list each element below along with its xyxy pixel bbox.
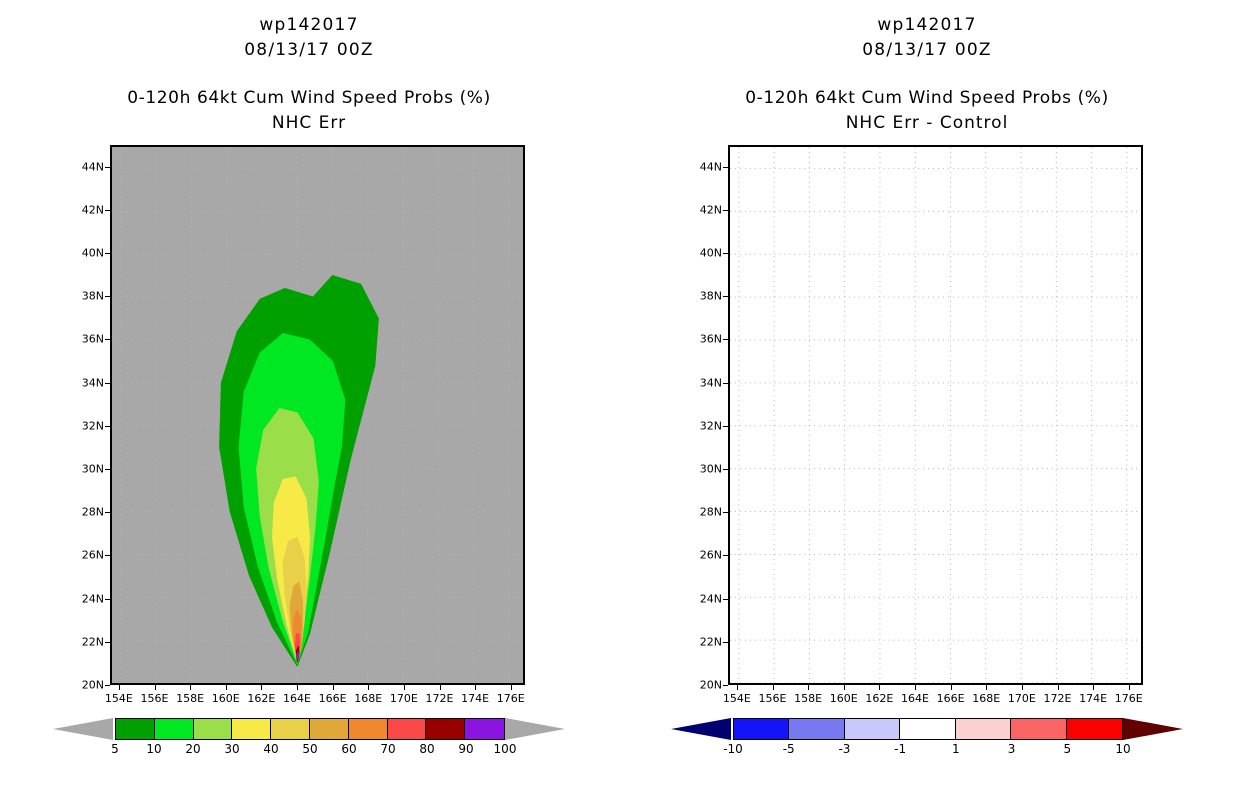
y-axis-label: 30N [68,463,104,476]
x-axis-label: 174E [461,692,489,705]
colorbar-tick-label: 3 [1008,742,1016,756]
colorbar-segment [1067,719,1122,739]
x-axis-label: 154E [723,692,751,705]
colorbar-tick-label: 90 [458,742,473,756]
y-axis-tick [105,339,110,340]
plot-area-nhc-err[interactable] [110,145,525,685]
y-axis-tick [105,210,110,211]
x-axis-tick [404,685,405,690]
y-axis-tick [723,210,728,211]
x-axis-tick [879,685,880,690]
y-axis-label: 30N [686,463,722,476]
panel-right-product: 0-120h 64kt Cum Wind Speed Probs (%) [618,88,1236,108]
y-axis-label: 42N [686,203,722,216]
x-axis-label: 170E [390,692,418,705]
colorbar-segment [1011,719,1066,739]
wind-probability-contours [112,147,523,683]
y-axis-tick [105,253,110,254]
y-axis-label: 34N [686,376,722,389]
gridlines-right [730,147,1141,683]
x-axis-tick [226,685,227,690]
y-axis-tick [105,426,110,427]
colorbar-tick-label: 60 [341,742,356,756]
y-axis-tick [723,383,728,384]
y-axis-label: 26N [686,549,722,562]
colorbar-segment [900,719,955,739]
y-axis-tick [105,685,110,686]
x-axis-tick [1129,685,1130,690]
x-axis-tick [368,685,369,690]
colorbar-tick-label: -3 [838,742,850,756]
y-axis-label: 26N [68,549,104,562]
colorbar-tick-label: 80 [419,742,434,756]
x-axis-tick [261,685,262,690]
x-axis-label: 174E [1079,692,1107,705]
colorbar-tick-label: -5 [783,742,795,756]
x-axis-label: 158E [794,692,822,705]
y-axis-label: 36N [686,333,722,346]
colorbar-probability: 5102030405060708090100 [55,718,565,740]
x-axis-label: 164E [283,692,311,705]
x-axis-label: 168E [972,692,1000,705]
panel-nhc-err: wp142017 08/13/17 00Z 0-120h 64kt Cum Wi… [0,0,618,800]
x-axis-label: 158E [176,692,204,705]
y-axis-label: 38N [686,290,722,303]
plot-area-difference[interactable] [728,145,1143,685]
panel-left-subtitle: NHC Err [0,113,618,133]
colorbar-segment [271,719,310,739]
colorbar-tick-label: 40 [263,742,278,756]
y-axis-label: 22N [686,635,722,648]
panel-left-date: 08/13/17 00Z [0,40,618,60]
y-axis-label: 40N [68,247,104,260]
y-axis-label: 20N [686,679,722,692]
colorbar-tick-label: 10 [1115,742,1130,756]
colorbar-body [115,718,505,740]
colorbar-tick-label: 5 [111,742,119,756]
x-axis-tick [951,685,952,690]
colorbar-tick-label: 70 [380,742,395,756]
colorbar-cap-low [53,718,113,740]
x-axis-tick [986,685,987,690]
y-axis-tick [723,426,728,427]
x-axis-label: 166E [319,692,347,705]
y-axis-label: 24N [686,592,722,605]
x-axis-label: 176E [497,692,525,705]
y-axis-label: 38N [68,290,104,303]
colorbar-segment [465,719,504,739]
x-axis-tick [511,685,512,690]
x-axis-label: 160E [212,692,240,705]
y-axis-tick [105,296,110,297]
y-axis-tick [105,599,110,600]
y-axis-tick [105,512,110,513]
colorbar-segment [426,719,465,739]
panel-left-product: 0-120h 64kt Cum Wind Speed Probs (%) [0,88,618,108]
y-axis-label: 34N [68,376,104,389]
y-axis-label: 28N [686,506,722,519]
colorbar-segment [116,719,155,739]
colorbar-tick-label: 100 [494,742,517,756]
colorbar-segment [232,719,271,739]
y-axis-label: 24N [68,592,104,605]
x-axis-label: 162E [865,692,893,705]
y-axis-tick [723,253,728,254]
colorbar-segment [388,719,427,739]
x-axis-label: 156E [759,692,787,705]
x-axis-tick [808,685,809,690]
panel-left-storm-id: wp142017 [0,15,618,35]
colorbar-segment [310,719,349,739]
y-axis-tick [723,339,728,340]
colorbar-tick-label: 50 [302,742,317,756]
y-axis-tick [723,167,728,168]
x-axis-label: 166E [937,692,965,705]
x-axis-label: 176E [1115,692,1143,705]
y-axis-tick [723,555,728,556]
y-axis-label: 32N [686,419,722,432]
x-axis-label: 168E [354,692,382,705]
y-axis-label: 44N [686,160,722,173]
x-axis-label: 160E [830,692,858,705]
colorbar-segment [734,719,789,739]
y-axis-tick [105,555,110,556]
x-axis-tick [915,685,916,690]
y-axis-label: 20N [68,679,104,692]
panel-right-subtitle: NHC Err - Control [618,113,1236,133]
colorbar-tick-label: -10 [723,742,743,756]
x-axis-tick [1093,685,1094,690]
colorbar-tick-label: 5 [1063,742,1071,756]
y-axis-tick [723,642,728,643]
colorbar-cap-high [1123,718,1183,740]
x-axis-tick [475,685,476,690]
x-axis-label: 170E [1008,692,1036,705]
colorbar-segment [956,719,1011,739]
x-axis-tick [297,685,298,690]
colorbar-tick-label: 30 [224,742,239,756]
x-axis-label: 162E [247,692,275,705]
y-axis-tick [105,383,110,384]
x-axis-tick [119,685,120,690]
y-axis-tick [723,296,728,297]
panel-right-date: 08/13/17 00Z [618,40,1236,60]
colorbar-tick-label: 10 [146,742,161,756]
colorbar-body [733,718,1123,740]
x-axis-tick [1022,685,1023,690]
y-axis-label: 22N [68,635,104,648]
y-axis-tick [105,167,110,168]
y-axis-label: 42N [68,203,104,216]
x-axis-tick [333,685,334,690]
colorbar-segment [155,719,194,739]
y-axis-label: 32N [68,419,104,432]
x-axis-label: 156E [141,692,169,705]
colorbar-difference: -10-5-3-113510 [673,718,1183,740]
x-axis-tick [737,685,738,690]
colorbar-segment [789,719,844,739]
colorbar-cap-high [505,718,565,740]
colorbar-segment [194,719,233,739]
y-axis-tick [723,599,728,600]
y-axis-tick [723,512,728,513]
y-axis-tick [105,642,110,643]
x-axis-tick [773,685,774,690]
x-axis-tick [190,685,191,690]
y-axis-label: 44N [68,160,104,173]
y-axis-tick [723,685,728,686]
x-axis-tick [440,685,441,690]
y-axis-label: 40N [686,247,722,260]
colorbar-segment [845,719,900,739]
x-axis-tick [844,685,845,690]
x-axis-tick [155,685,156,690]
x-axis-label: 172E [426,692,454,705]
x-axis-tick [1058,685,1059,690]
x-axis-label: 164E [901,692,929,705]
colorbar-segment [349,719,388,739]
x-axis-label: 172E [1044,692,1072,705]
y-axis-tick [105,469,110,470]
y-axis-label: 28N [68,506,104,519]
panel-right-storm-id: wp142017 [618,15,1236,35]
x-axis-label: 154E [105,692,133,705]
colorbar-tick-label: -1 [894,742,906,756]
y-axis-tick [723,469,728,470]
colorbar-cap-low [671,718,731,740]
colorbar-tick-label: 20 [185,742,200,756]
colorbar-tick-label: 1 [952,742,960,756]
y-axis-label: 36N [68,333,104,346]
